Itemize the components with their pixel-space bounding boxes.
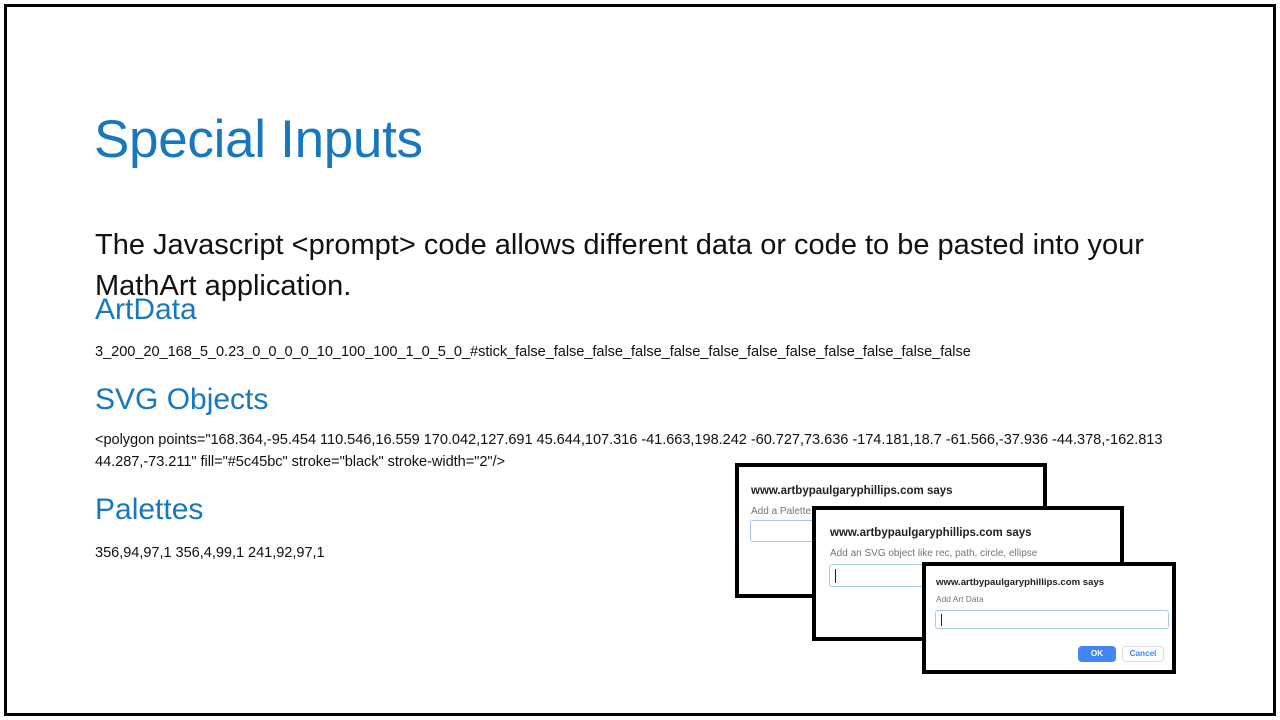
dialog-message-label: Add Art Data (936, 594, 984, 604)
artdata-code-text: 3_200_20_168_5_0.23_0_0_0_0_10_100_100_1… (95, 341, 1225, 363)
dialog-origin-label: www.artbypaulgaryphillips.com says (936, 577, 1104, 588)
dialog-text-input[interactable] (935, 610, 1169, 629)
browser-prompt-dialog-art-data[interactable]: www.artbypaulgaryphillips.com says Add A… (922, 562, 1176, 674)
section-heading-artdata: ArtData (95, 292, 197, 328)
dialog-origin-label: www.artbypaulgaryphillips.com says (830, 527, 1032, 539)
palettes-code-text: 356,94,97,1 356,4,99,1 241,92,97,1 (95, 542, 695, 564)
text-caret (941, 614, 942, 626)
ok-button[interactable]: OK (1078, 646, 1116, 662)
section-heading-svg-objects: SVG Objects (95, 382, 268, 418)
section-heading-palettes: Palettes (95, 492, 203, 528)
dialog-message-label: Add a Palette (751, 506, 811, 517)
text-caret (835, 569, 836, 583)
cancel-button[interactable]: Cancel (1122, 646, 1164, 662)
dialog-origin-label: www.artbypaulgaryphillips.com says (751, 485, 953, 497)
presentation-slide: Special Inputs The Javascript <prompt> c… (0, 0, 1280, 720)
dialog-button-row: OK Cancel (1078, 646, 1164, 662)
intro-paragraph: The Javascript <prompt> code allows diff… (95, 225, 1195, 307)
page-title: Special Inputs (94, 108, 423, 172)
dialog-message-label: Add an SVG object like rec, path, circle… (830, 548, 1037, 559)
